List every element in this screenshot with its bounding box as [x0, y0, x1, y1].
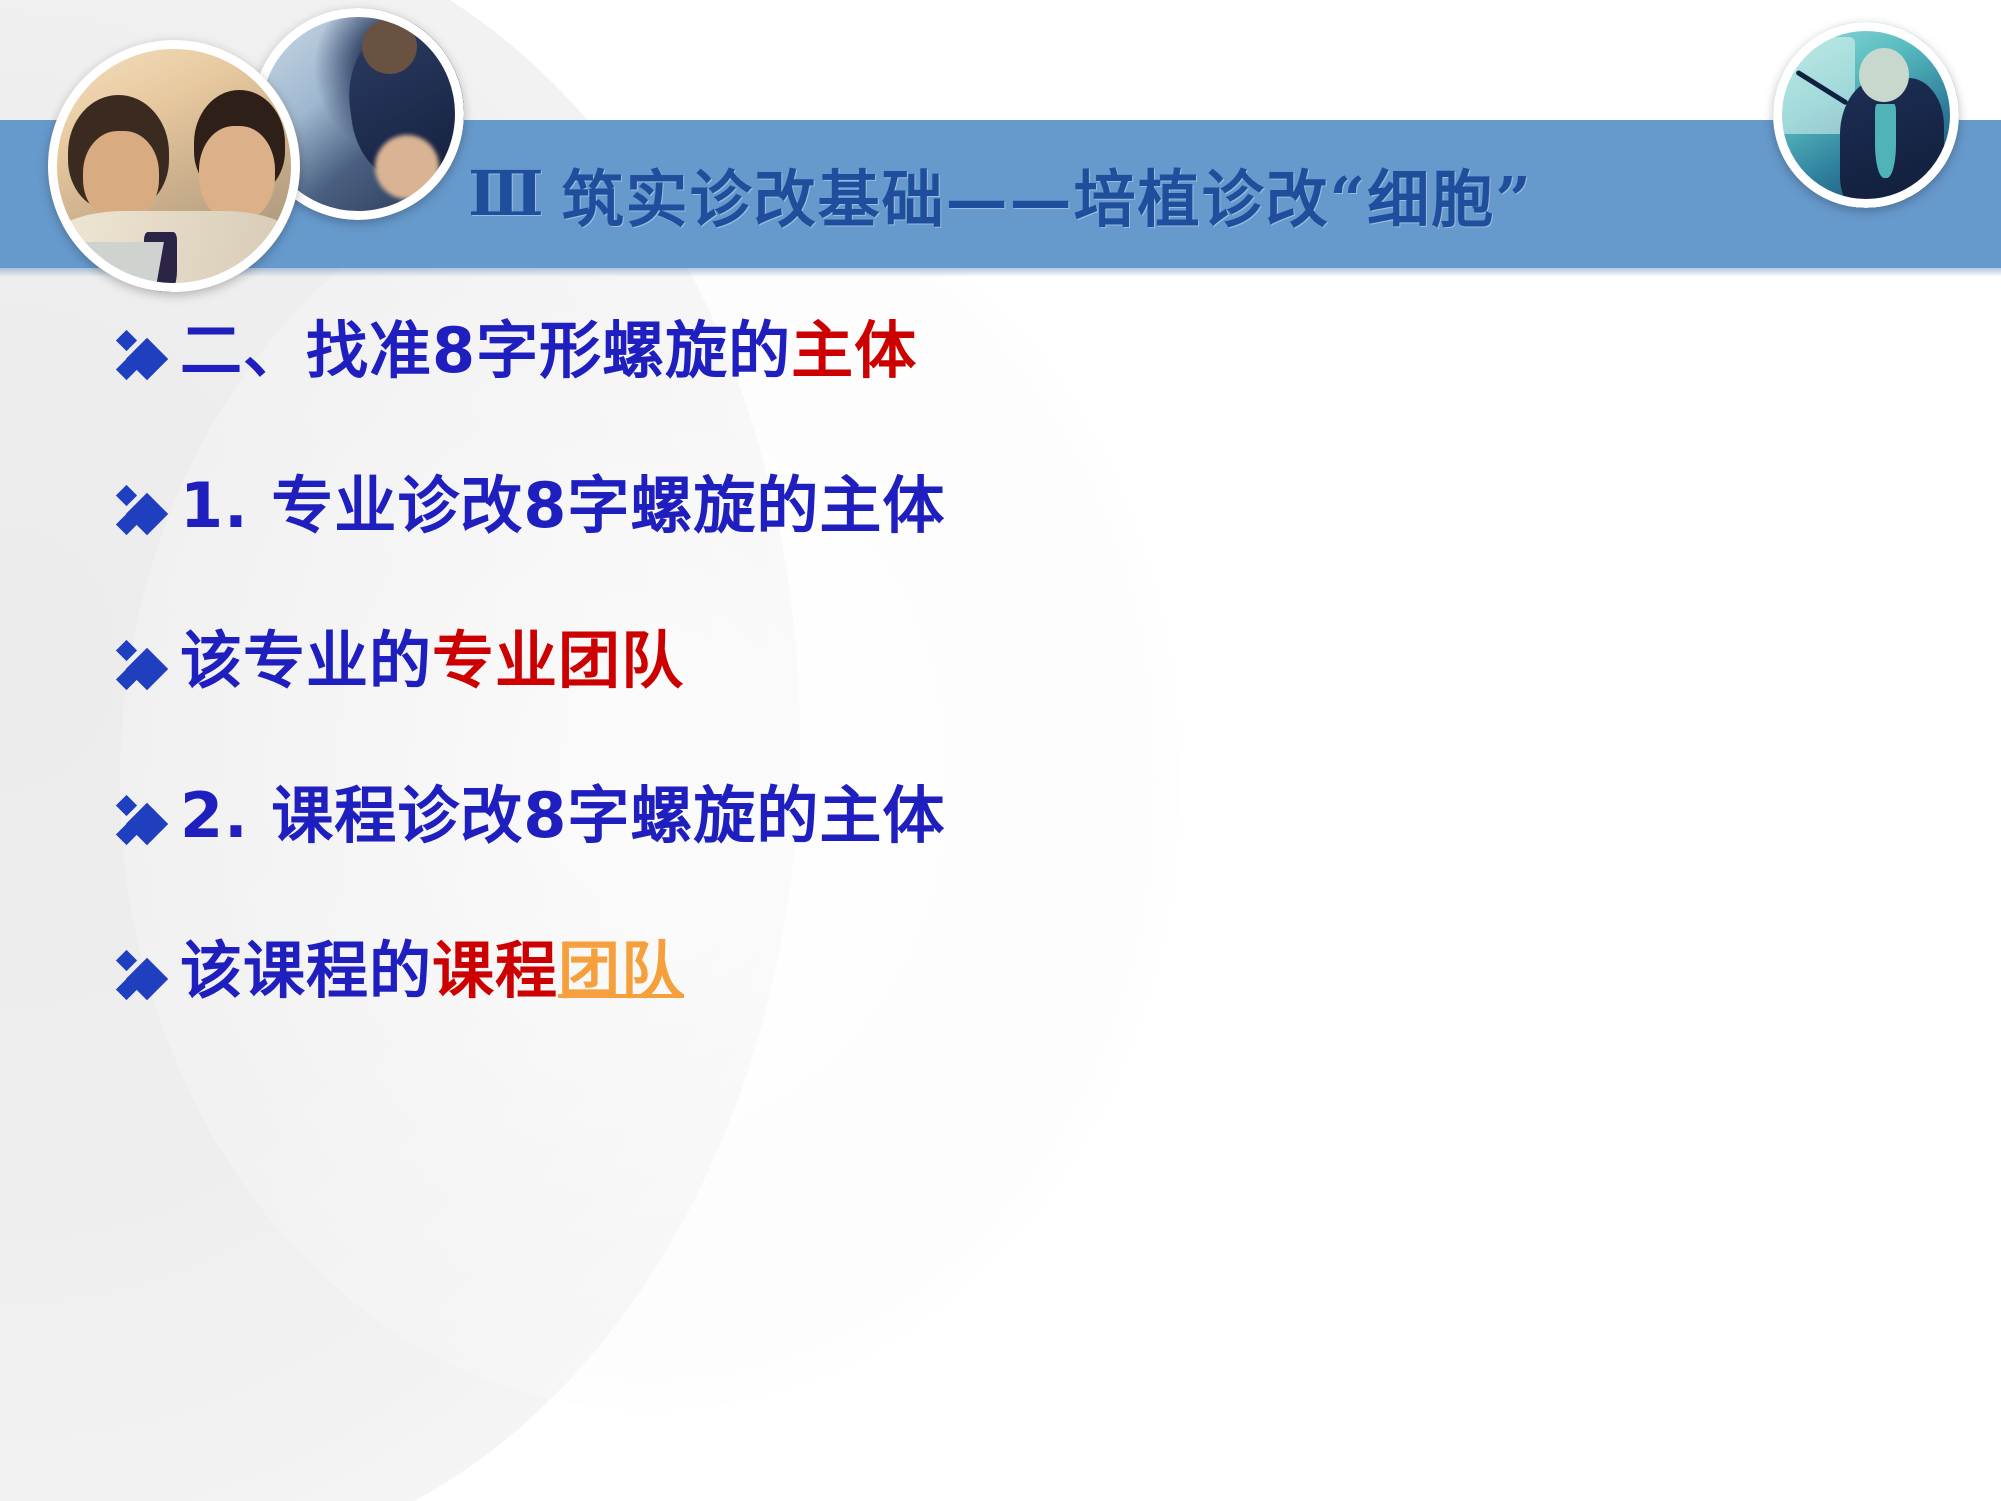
bullet-text-segment: 该课程的	[180, 934, 432, 1007]
diamond-bullet-icon	[118, 948, 174, 1010]
bullet-text: 1. 专业诊改8字螺旋的主体	[180, 473, 945, 538]
bullet-text-segment: 2. 课程诊改8字螺旋的主体	[180, 779, 945, 852]
bullet-text-segment: 课程	[432, 934, 558, 1007]
section-number: Ⅲ	[468, 157, 546, 231]
bullet-text-segment: 二、找准8字形螺旋的	[180, 314, 791, 387]
bullet-text-segment: 1. 专业诊改8字螺旋的主体	[180, 469, 945, 542]
diamond-bullet-icon	[118, 638, 174, 700]
bullet-text: 二、找准8字形螺旋的主体	[180, 318, 917, 383]
bullet-item: 2. 课程诊改8字螺旋的主体	[118, 783, 1938, 848]
bullet-list: 二、找准8字形螺旋的主体1. 专业诊改8字螺旋的主体该专业的专业团队2. 课程诊…	[118, 318, 1938, 1003]
slide-canvas: Ⅲ 筑实诊改基础——培植诊改“细胞” 二、找准8字形螺旋的主体1. 专业诊改8字…	[0, 0, 2001, 1501]
title-text: 筑实诊改基础——培植诊改“细胞”	[562, 149, 1533, 239]
bullet-text-segment: 团队	[558, 934, 684, 1007]
diamond-bullet-icon	[118, 328, 174, 390]
photo-presenter	[1773, 22, 1959, 208]
bullet-text: 2. 课程诊改8字螺旋的主体	[180, 783, 945, 848]
bullet-text: 该课程的课程团队	[180, 938, 684, 1003]
bullet-item: 该课程的课程团队	[118, 938, 1938, 1003]
photo-colleagues	[48, 40, 300, 292]
diamond-bullet-icon	[118, 793, 174, 855]
bullet-text-segment: 该专业的	[180, 624, 432, 697]
bullet-item: 该专业的专业团队	[118, 628, 1938, 693]
bullet-text-segment: 主体	[791, 314, 917, 387]
diamond-bullet-icon	[118, 483, 174, 545]
bullet-item: 1. 专业诊改8字螺旋的主体	[118, 473, 1938, 538]
bullet-item: 二、找准8字形螺旋的主体	[118, 318, 1938, 383]
bullet-text: 该专业的专业团队	[180, 628, 684, 693]
header-banner-shadow	[0, 268, 2001, 277]
bullet-text-segment: 专业团队	[432, 624, 684, 697]
